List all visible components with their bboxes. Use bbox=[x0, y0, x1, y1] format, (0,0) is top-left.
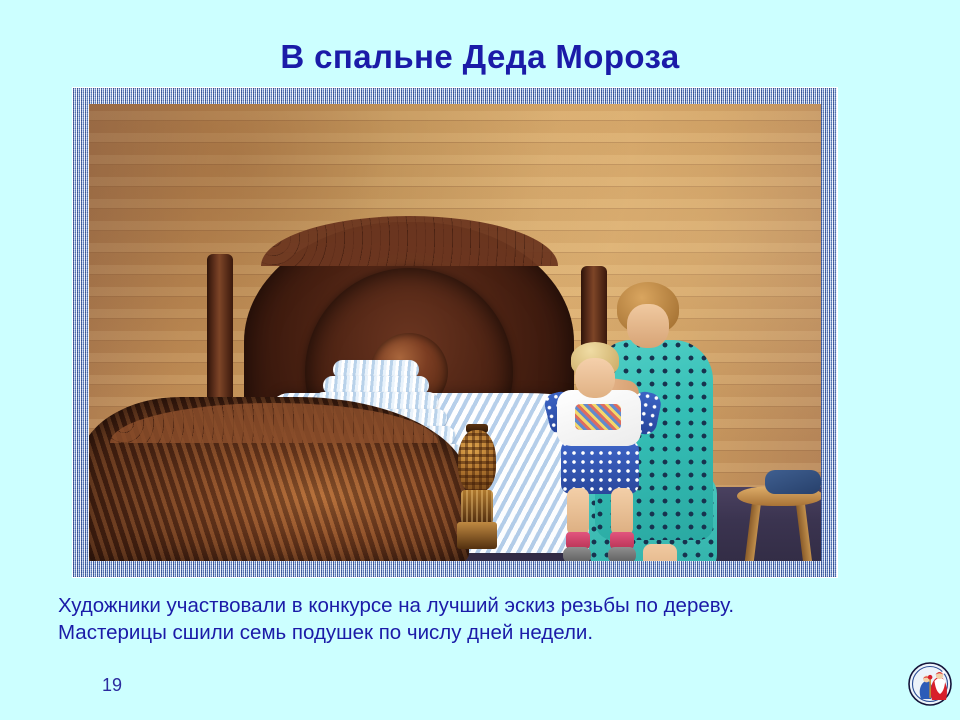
bedroom-photo bbox=[89, 104, 821, 561]
child-figure bbox=[551, 342, 659, 561]
lamp-foot bbox=[457, 522, 497, 549]
stool-leg bbox=[742, 502, 761, 561]
carved-footboard bbox=[89, 397, 469, 561]
stool-cloth bbox=[765, 470, 821, 494]
caption: Художники участвовали в конкурсе на лучш… bbox=[58, 592, 918, 646]
bronze-lamp bbox=[457, 424, 497, 549]
lamp-base bbox=[461, 490, 493, 524]
photo-frame bbox=[72, 87, 838, 578]
child-shirt bbox=[557, 390, 641, 446]
child-leg bbox=[567, 488, 589, 536]
caption-line-2: Мастерицы сшили семь подушек по числу дн… bbox=[58, 619, 918, 646]
ded-moroz-logo-icon bbox=[908, 661, 953, 707]
stool-leg bbox=[796, 502, 815, 561]
slide: В спальне Деда Мороза bbox=[0, 0, 960, 720]
lamp-globe bbox=[458, 430, 496, 492]
wooden-stool bbox=[737, 472, 821, 561]
caption-line-1: Художники участвовали в конкурсе на лучш… bbox=[58, 592, 918, 619]
child-shoe bbox=[563, 547, 591, 561]
page-title: В спальне Деда Мороза bbox=[0, 38, 960, 76]
page-number: 19 bbox=[102, 675, 122, 696]
ded-moroz-emblem-icon bbox=[908, 661, 953, 707]
child-leg bbox=[611, 488, 633, 536]
child-shorts bbox=[561, 440, 639, 494]
child-face bbox=[575, 358, 615, 398]
child-shoe bbox=[608, 547, 636, 561]
